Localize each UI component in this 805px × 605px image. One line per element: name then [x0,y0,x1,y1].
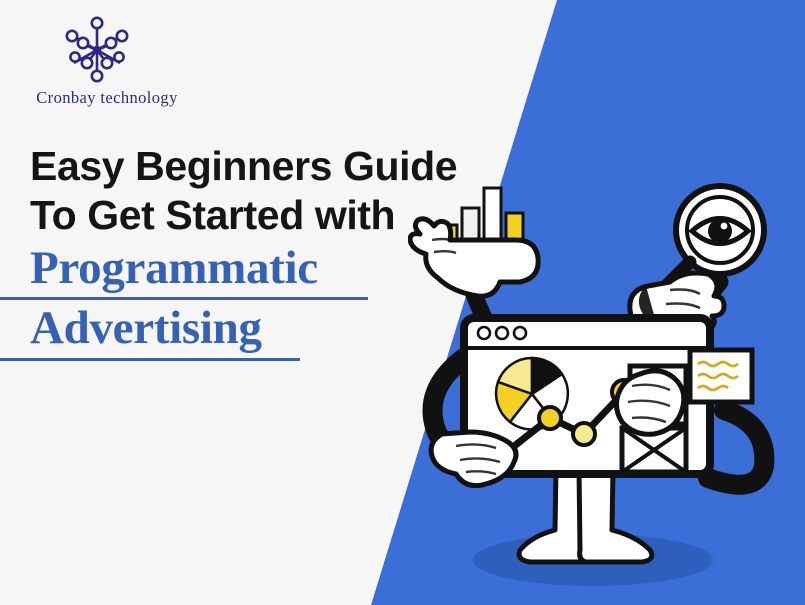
brand-logo: Cronbay technology [22,14,192,114]
right-hand-on-graph [616,371,683,434]
headline-line-1: Easy Beginners Guide [30,143,457,189]
subheadline-line-2: Advertising [30,302,262,355]
subheadline-row-1: Programmatic [0,242,420,302]
hand-holding-bar-chart [410,188,538,296]
promo-banner: Cronbay technology Easy Beginners Guide … [0,0,805,605]
brand-name-text: Cronbay technology [22,88,192,108]
document-card-with-text-lines [690,350,752,402]
legs-and-feet [519,468,652,562]
hero-illustration [408,178,805,605]
eye-icon [692,219,748,244]
subheadline-line-1: Programmatic [30,242,318,295]
subheadline: Programmatic Advertising [0,242,420,362]
subheadline-underline-1 [0,297,368,300]
network-node-snowflake-icon [58,14,136,86]
right-arm [708,410,764,485]
subheadline-row-2: Advertising [0,302,420,362]
left-hand-on-graph [431,432,516,486]
hand-holding-magnifier-with-eye [630,186,764,331]
subheadline-underline-2 [0,358,300,361]
